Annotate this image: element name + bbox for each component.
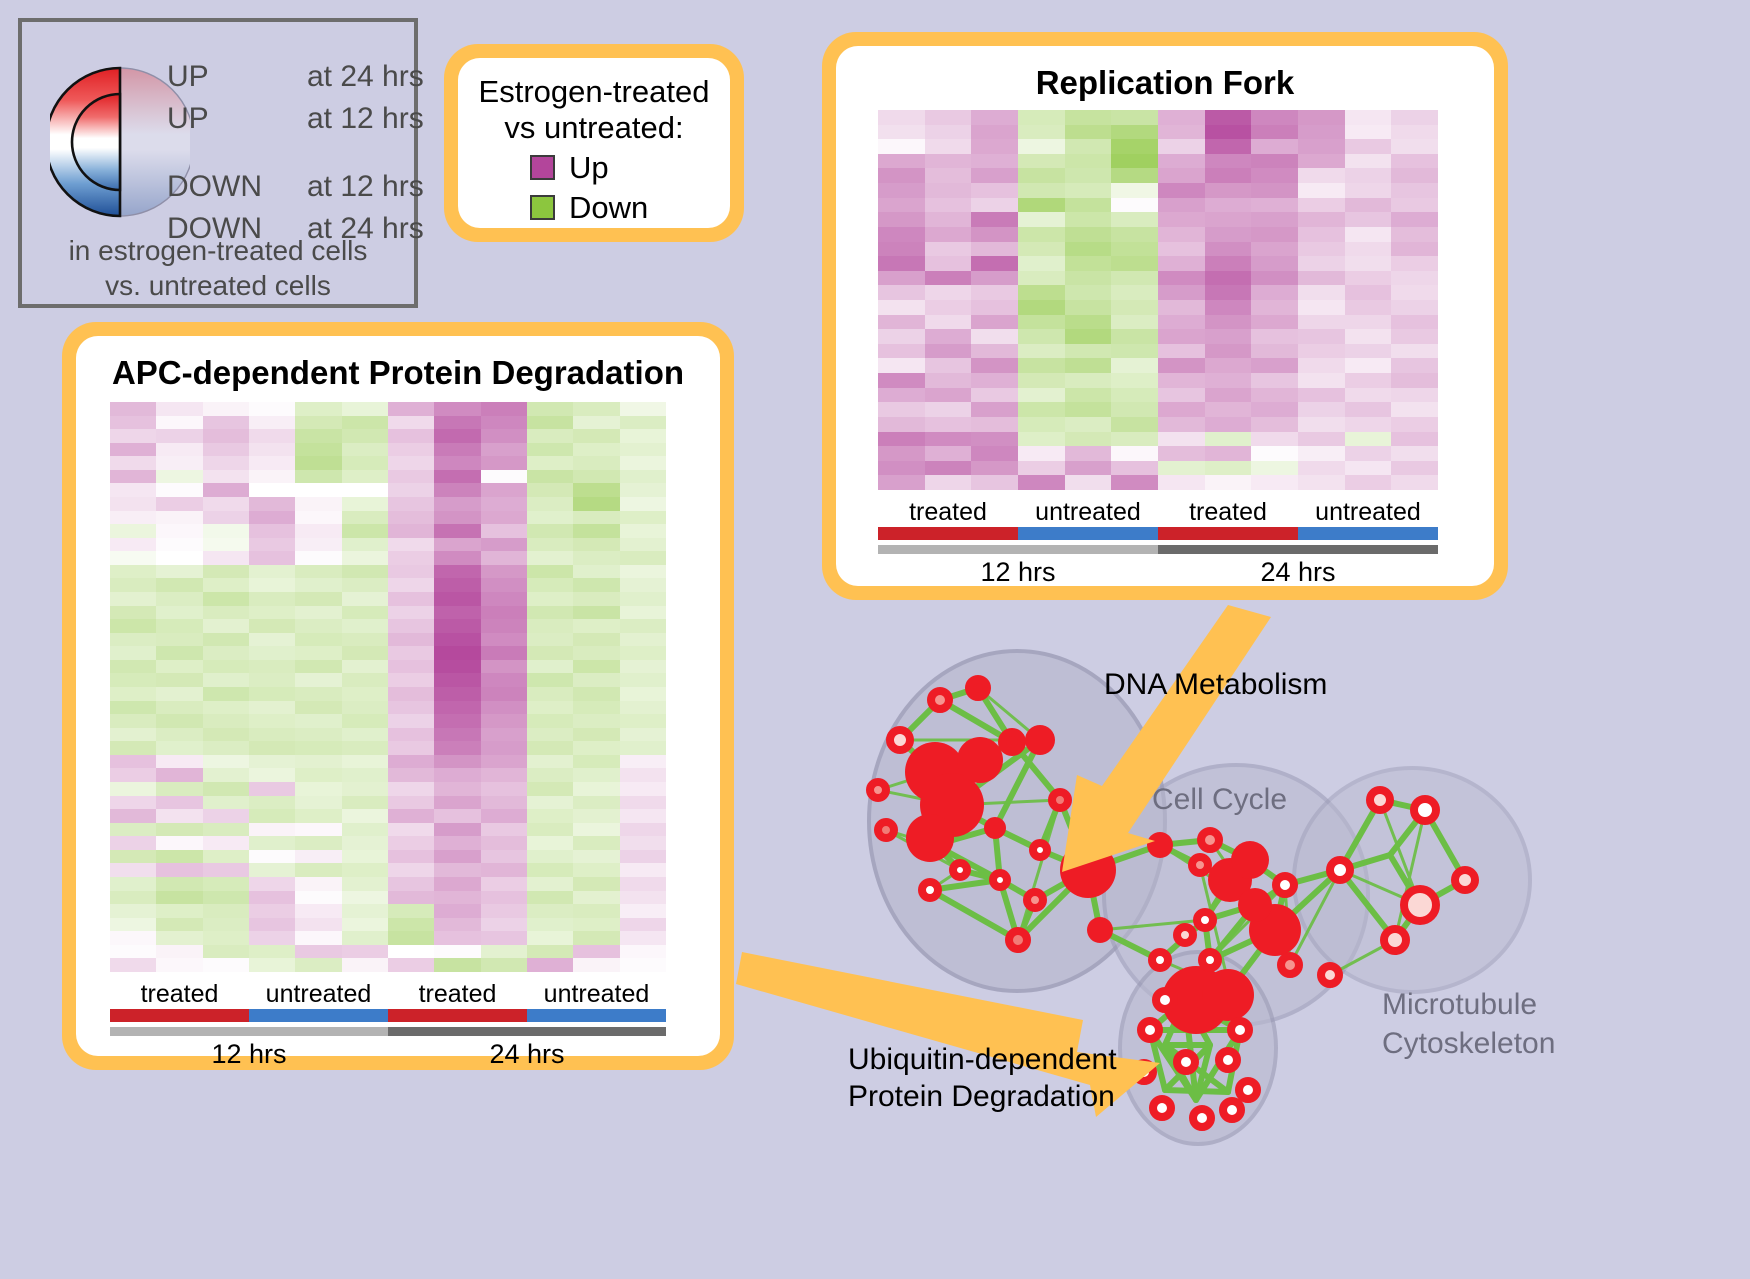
- replication-fork-axis-labels: treated untreated treated untreated: [878, 498, 1438, 527]
- apc-bar-24hrs: [388, 1027, 666, 1036]
- apc-time-label-1: 24 hrs: [388, 1039, 666, 1070]
- cluster-dna-metabolism: [869, 651, 1165, 991]
- network-edges: [878, 688, 1465, 1100]
- label-microtubule-line1: Microtubule: [1382, 985, 1555, 1024]
- apc-treatment-bar: [110, 1009, 666, 1022]
- rf-time-label-0: 12 hrs: [878, 557, 1158, 588]
- colorkey-row-0: UP at 24 hrs: [167, 60, 424, 94]
- updown-title-line2: vs untreated:: [458, 110, 730, 146]
- down-swatch-icon: [530, 195, 555, 220]
- colorkey-row-1: UP at 12 hrs: [167, 102, 424, 136]
- apc-bar-untreated-12: [249, 1009, 388, 1022]
- updown-legend-card: Estrogen-treated vs untreated: Up Down: [444, 44, 744, 242]
- up-label: Up: [569, 150, 609, 186]
- apc-axis-label-3: untreated: [527, 980, 666, 1009]
- rf-bar-12hrs: [878, 545, 1158, 554]
- apc-time-label-0: 12 hrs: [110, 1039, 388, 1070]
- apc-axis-label-1: untreated: [249, 980, 388, 1009]
- replication-fork-title: Replication Fork: [836, 46, 1494, 102]
- apc-bar-untreated-24: [527, 1009, 666, 1022]
- up-swatch-icon: [530, 155, 555, 180]
- colorkey-caption-line1: in estrogen-treated cells: [22, 234, 414, 269]
- label-ubiquitin-degradation: Ubiquitin-dependent Protein Degradation: [848, 1042, 1117, 1115]
- down-label: Down: [569, 190, 648, 226]
- rf-bar-24hrs: [1158, 545, 1438, 554]
- rf-time-label-1: 24 hrs: [1158, 557, 1438, 588]
- apc-panel: APC-dependent Protein Degradation treate…: [62, 322, 734, 1070]
- label-ubiquitin-line2: Protein Degradation: [848, 1079, 1117, 1116]
- cluster-microtubule: [1294, 768, 1530, 992]
- colorkey-row-2: DOWN at 12 hrs: [167, 170, 424, 204]
- rf-axis-label-1: untreated: [1018, 498, 1158, 527]
- updown-title-line1: Estrogen-treated: [458, 74, 730, 110]
- colorkey-caption: in estrogen-treated cells vs. untreated …: [22, 234, 414, 303]
- color-key-legend: UP at 24 hrs UP at 12 hrs DOWN at 12 hrs…: [18, 18, 418, 308]
- arrow-to-dna-metabolism: [1062, 605, 1271, 872]
- apc-heatmap: [110, 402, 666, 972]
- legend-item-down: Down: [530, 190, 730, 226]
- apc-bar-treated-12: [110, 1009, 249, 1022]
- rf-bar-treated-24: [1158, 527, 1298, 540]
- label-microtubule-line2: Cytoskeleton: [1382, 1024, 1555, 1063]
- rf-bar-untreated-24: [1298, 527, 1438, 540]
- replication-fork-heatmap: [878, 110, 1438, 490]
- colorkey-caption-line2: vs. untreated cells: [22, 269, 414, 304]
- rf-time-labels: 12 hrs 24 hrs: [878, 557, 1438, 588]
- colorkey-row-1-label: UP: [167, 102, 307, 136]
- apc-bar-12hrs: [110, 1027, 388, 1036]
- replication-fork-panel: Replication Fork treated untreated treat…: [822, 32, 1508, 600]
- colorkey-row-1-time: at 12 hrs: [307, 102, 424, 136]
- label-dna-metabolism: DNA Metabolism: [1104, 668, 1327, 702]
- label-ubiquitin-line1: Ubiquitin-dependent: [848, 1042, 1117, 1079]
- apc-axis-labels: treated untreated treated untreated: [110, 980, 666, 1009]
- rf-time-bar: [878, 545, 1438, 554]
- rf-axis-label-0: treated: [878, 498, 1018, 527]
- rf-axis-label-3: untreated: [1298, 498, 1438, 527]
- colorkey-row-2-label: DOWN: [167, 170, 307, 204]
- updown-legend-title: Estrogen-treated vs untreated:: [458, 74, 730, 146]
- apc-time-labels: 12 hrs 24 hrs: [110, 1039, 666, 1070]
- cluster-ubiquitin: [1120, 952, 1276, 1144]
- apc-title: APC-dependent Protein Degradation: [76, 336, 720, 392]
- colorkey-row-2-time: at 12 hrs: [307, 170, 424, 204]
- rf-axis-label-2: treated: [1158, 498, 1298, 527]
- label-microtubule-cytoskeleton: Microtubule Cytoskeleton: [1382, 985, 1555, 1063]
- rf-bar-treated-12: [878, 527, 1018, 540]
- colorkey-row-0-label: UP: [167, 60, 307, 94]
- apc-bar-treated-24: [388, 1009, 527, 1022]
- apc-time-bar: [110, 1027, 666, 1036]
- apc-axis-label-2: treated: [388, 980, 527, 1009]
- colorkey-row-0-time: at 24 hrs: [307, 60, 424, 94]
- label-cell-cycle: Cell Cycle: [1152, 783, 1287, 817]
- rf-bar-untreated-12: [1018, 527, 1158, 540]
- rf-treatment-bar: [878, 527, 1438, 540]
- apc-axis-label-0: treated: [110, 980, 249, 1009]
- legend-item-up: Up: [530, 150, 730, 186]
